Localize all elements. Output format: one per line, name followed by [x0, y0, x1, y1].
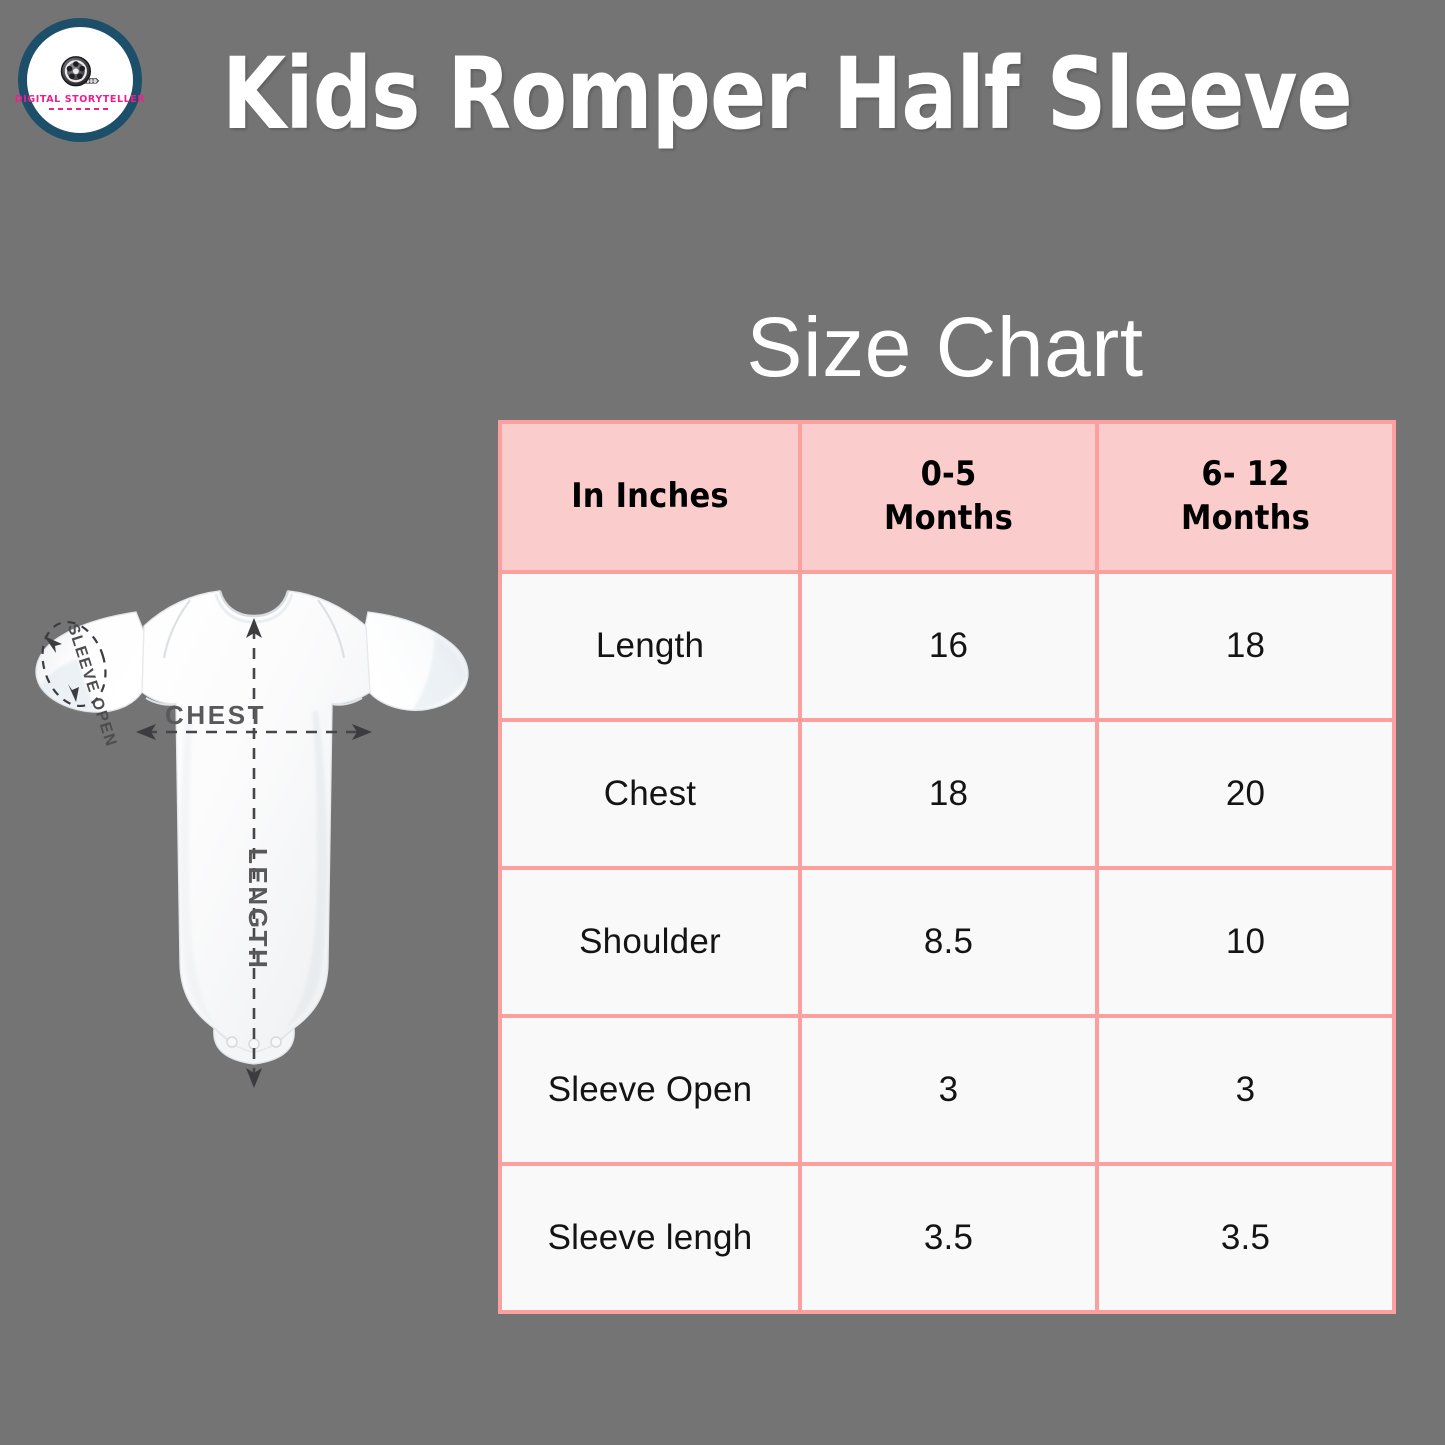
table-row: Length 16 18 [500, 572, 1394, 720]
row-value-6-12: 3 [1097, 1016, 1394, 1164]
row-value-6-12: 18 [1097, 572, 1394, 720]
column-header-0-5-months-line2: Months [802, 497, 1095, 541]
page-title: Kids Romper Half Sleeve [222, 44, 1161, 147]
row-value-6-12: 10 [1097, 868, 1394, 1016]
logo-dashed-rule [49, 108, 111, 110]
column-header-measure: In Inches [500, 422, 800, 572]
column-header-6-12-months-line2: Months [1099, 497, 1392, 541]
length-measurement-label: LENGTH [242, 848, 273, 970]
column-header-measure-line1: In Inches [502, 475, 798, 519]
table-row: Sleeve lengh 3.5 3.5 [500, 1164, 1394, 1312]
row-value-6-12: 20 [1097, 720, 1394, 868]
table-row: Sleeve Open 3 3 [500, 1016, 1394, 1164]
row-value-6-12: 3.5 [1097, 1164, 1394, 1312]
table-header-row: In Inches 0-5 Months 6- 12 Months [500, 422, 1394, 572]
row-value-0-5: 8.5 [800, 868, 1097, 1016]
chest-measurement-label: CHEST [165, 700, 266, 731]
film-reel-icon [58, 54, 102, 94]
row-value-0-5: 18 [800, 720, 1097, 868]
row-measure-name: Chest [500, 720, 800, 868]
row-value-0-5: 16 [800, 572, 1097, 720]
column-header-6-12-months-line1: 6- 12 [1099, 453, 1392, 497]
row-measure-name: Shoulder [500, 868, 800, 1016]
logo-wordmark: DIGITAL STORYTELLER [15, 95, 146, 105]
row-measure-name: Sleeve Open [500, 1016, 800, 1164]
row-value-0-5: 3.5 [800, 1164, 1097, 1312]
size-chart-table: In Inches 0-5 Months 6- 12 Months Length… [498, 420, 1396, 1314]
column-header-0-5-months: 0-5 Months [800, 422, 1097, 572]
row-measure-name: Sleeve lengh [500, 1164, 800, 1312]
column-header-6-12-months: 6- 12 Months [1097, 422, 1394, 572]
table-row: Shoulder 8.5 10 [500, 868, 1394, 1016]
column-header-0-5-months-line1: 0-5 [802, 453, 1095, 497]
size-chart-heading: Size Chart [498, 305, 1392, 389]
table-row: Chest 18 20 [500, 720, 1394, 868]
row-value-0-5: 3 [800, 1016, 1097, 1164]
brand-logo: DIGITAL STORYTELLER [18, 18, 142, 142]
row-measure-name: Length [500, 572, 800, 720]
